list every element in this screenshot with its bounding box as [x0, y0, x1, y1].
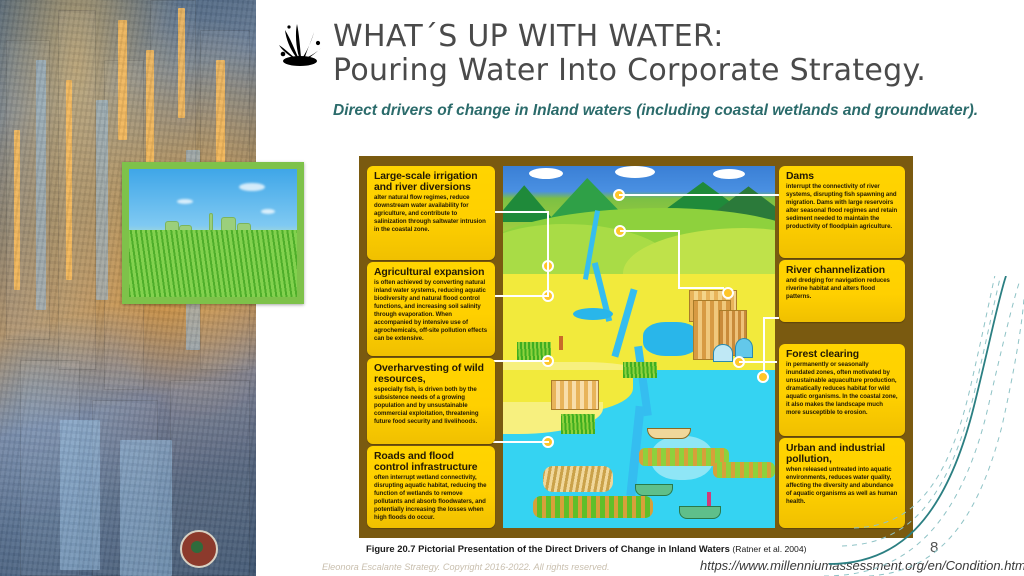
source-url[interactable]: https://www.millenniumassessment.org/en/…: [700, 558, 1024, 573]
callout-box-river-channelization[interactable]: River channelization and dredging for na…: [779, 260, 905, 322]
figure-caption-main: Figure 20.7 Pictorial Presentation of th…: [366, 543, 730, 554]
figure-panel: Large-scale irrigation and river diversi…: [359, 156, 913, 538]
page-subtitle: Direct drivers of change in Inland water…: [333, 101, 993, 121]
callout-box-roads-flood-control[interactable]: Roads and flood control infrastructure o…: [367, 446, 495, 528]
title-line-2: Pouring Water Into Corporate Strategy.: [333, 54, 993, 88]
callout-box-dams[interactable]: Dams interrupt the connectivity of river…: [779, 166, 905, 258]
page-title: WHAT´S UP WITH WATER: Pouring Water Into…: [333, 20, 993, 87]
page-number: 8: [930, 539, 938, 556]
callout-body: especially fish, is driven both by the s…: [374, 386, 488, 426]
agriculture-industry-photo: [122, 162, 304, 304]
watershed-illustration: [503, 166, 775, 528]
callout-box-urban-industrial-pollution[interactable]: Urban and industrial pollution, when rel…: [779, 438, 905, 528]
copyright-notice: Eleonora Escalante Strategy. Copyright 2…: [322, 562, 610, 572]
callout-title: Dams: [786, 171, 898, 182]
callout-body: when released untreated into aquatic env…: [786, 466, 898, 506]
callout-title: Urban and industrial pollution,: [786, 443, 898, 465]
callout-box-agricultural-expansion[interactable]: Agricultural expansion is often achieved…: [367, 262, 495, 356]
callout-title: Roads and flood control infrastructure: [374, 451, 488, 473]
callout-title: River channelization: [786, 265, 898, 276]
callout-body: in permanently or seasonally inundated z…: [786, 361, 898, 416]
callout-box-forest-clearing[interactable]: Forest clearing in permanently or season…: [779, 344, 905, 436]
callout-title: Overharvesting of wild resources,: [374, 363, 488, 385]
callout-title: Agricultural expansion: [374, 267, 488, 278]
callout-box-large-scale-irrigation[interactable]: Large-scale irrigation and river diversi…: [367, 166, 495, 260]
callout-body: and dredging for navigation reduces rive…: [786, 277, 898, 301]
callout-title: Large-scale irrigation and river diversi…: [374, 171, 488, 193]
slide-canvas: WHAT´S UP WITH WATER: Pouring Water Into…: [0, 0, 1024, 576]
water-splash-icon: [276, 21, 324, 67]
grass-field: [129, 230, 297, 297]
callout-title: Forest clearing: [786, 349, 898, 360]
figure-caption-source: (Ratner et al. 2004): [732, 544, 806, 554]
callout-body: often interrupt wetland connectivity, di…: [374, 474, 488, 522]
inset-photo-image: [129, 169, 297, 297]
title-line-1: WHAT´S UP WITH WATER:: [333, 19, 724, 54]
callout-body: interrupt the connectivity of river syst…: [786, 183, 898, 231]
figure-caption: Figure 20.7 Pictorial Presentation of th…: [366, 543, 966, 554]
callout-box-overharvesting[interactable]: Overharvesting of wild resources, especi…: [367, 358, 495, 444]
callout-body: alter natural flow regimes, reduce downs…: [374, 194, 488, 234]
callout-body: is often achieved by converting natural …: [374, 279, 488, 342]
helipad-marking: [180, 530, 218, 568]
